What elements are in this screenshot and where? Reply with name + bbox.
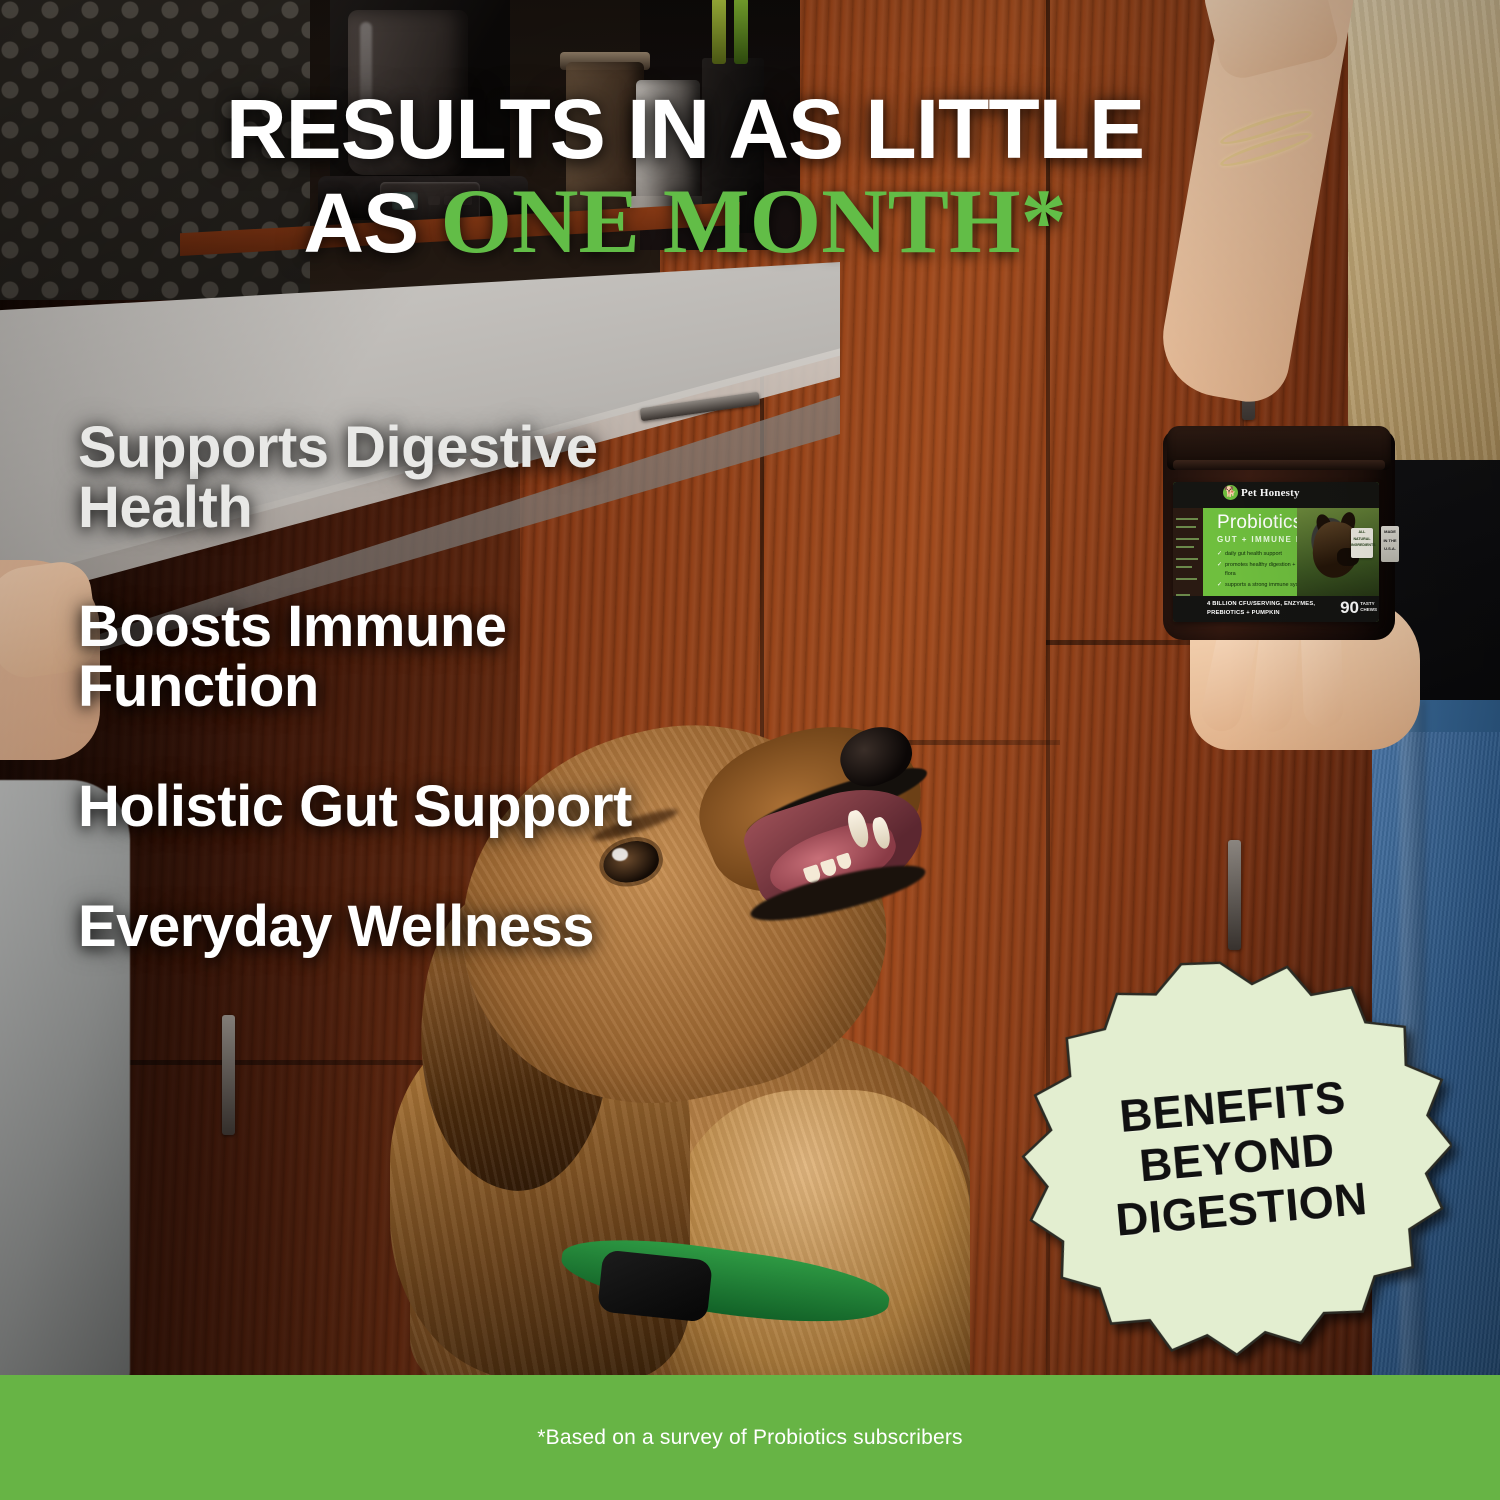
brand-logo: 🐕 Pet Honesty	[1223, 485, 1300, 500]
drawer-pull	[1228, 840, 1241, 950]
label-bottom-band: 4 BILLION CFU/SERVING, ENZYMES, PREBIOTI…	[1173, 596, 1379, 622]
badge-text: BENEFITS BEYOND DIGESTION	[1005, 940, 1468, 1376]
headline-highlight: ONE MONTH*	[440, 170, 1066, 272]
chew-count: 90	[1340, 598, 1359, 618]
headline: RESULTS IN AS LITTLE AS ONE MONTH*	[0, 88, 1370, 266]
jar-label: 🐕 Pet Honesty Probiotics GUT + IMM	[1173, 482, 1379, 622]
brand-name: Pet Honesty	[1241, 487, 1300, 499]
footer-bar: *Based on a survey of Probiotics subscri…	[0, 1375, 1500, 1500]
collar-buckle	[597, 1249, 713, 1322]
benefits-list: Supports Digestive Health Boosts Immune …	[78, 418, 718, 1016]
label-claim: 4 BILLION CFU/SERVING, ENZYMES, PREBIOTI…	[1207, 600, 1327, 617]
made-in-usa-seal: MADE IN THE U.S.A.	[1381, 526, 1399, 562]
benefit-item: Everyday Wellness	[78, 897, 718, 957]
woman-blonde-hair	[1348, 0, 1500, 460]
knife-handle	[734, 0, 748, 64]
benefit-item: Boosts Immune Function	[78, 597, 718, 716]
product-name: Probiotics	[1217, 512, 1302, 534]
jar-lid-rim	[1173, 460, 1385, 470]
chew-count-label: TASTY CHEWS	[1360, 601, 1377, 614]
benefits-badge: BENEFITS BEYOND DIGESTION	[1005, 940, 1468, 1376]
knife-handle	[712, 0, 726, 64]
drawer-pull	[222, 1015, 235, 1135]
benefit-item: Holistic Gut Support	[78, 777, 718, 837]
benefit-item: Supports Digestive Health	[78, 418, 718, 537]
product-jar: 🐕 Pet Honesty Probiotics GUT + IMM	[1163, 430, 1395, 640]
footer-disclaimer: *Based on a survey of Probiotics subscri…	[537, 1426, 963, 1450]
product-infographic: 🐕 Pet Honesty Probiotics GUT + IMM	[0, 0, 1500, 1500]
all-natural-badge: ALL NATURAL INGREDIENTS	[1351, 528, 1373, 558]
headline-line-1: RESULTS IN AS LITTLE	[226, 82, 1144, 176]
headline-line-2-prefix: AS	[303, 176, 440, 270]
dog-logo-icon: 🐕	[1223, 485, 1238, 500]
dog-chest	[670, 1090, 970, 1400]
